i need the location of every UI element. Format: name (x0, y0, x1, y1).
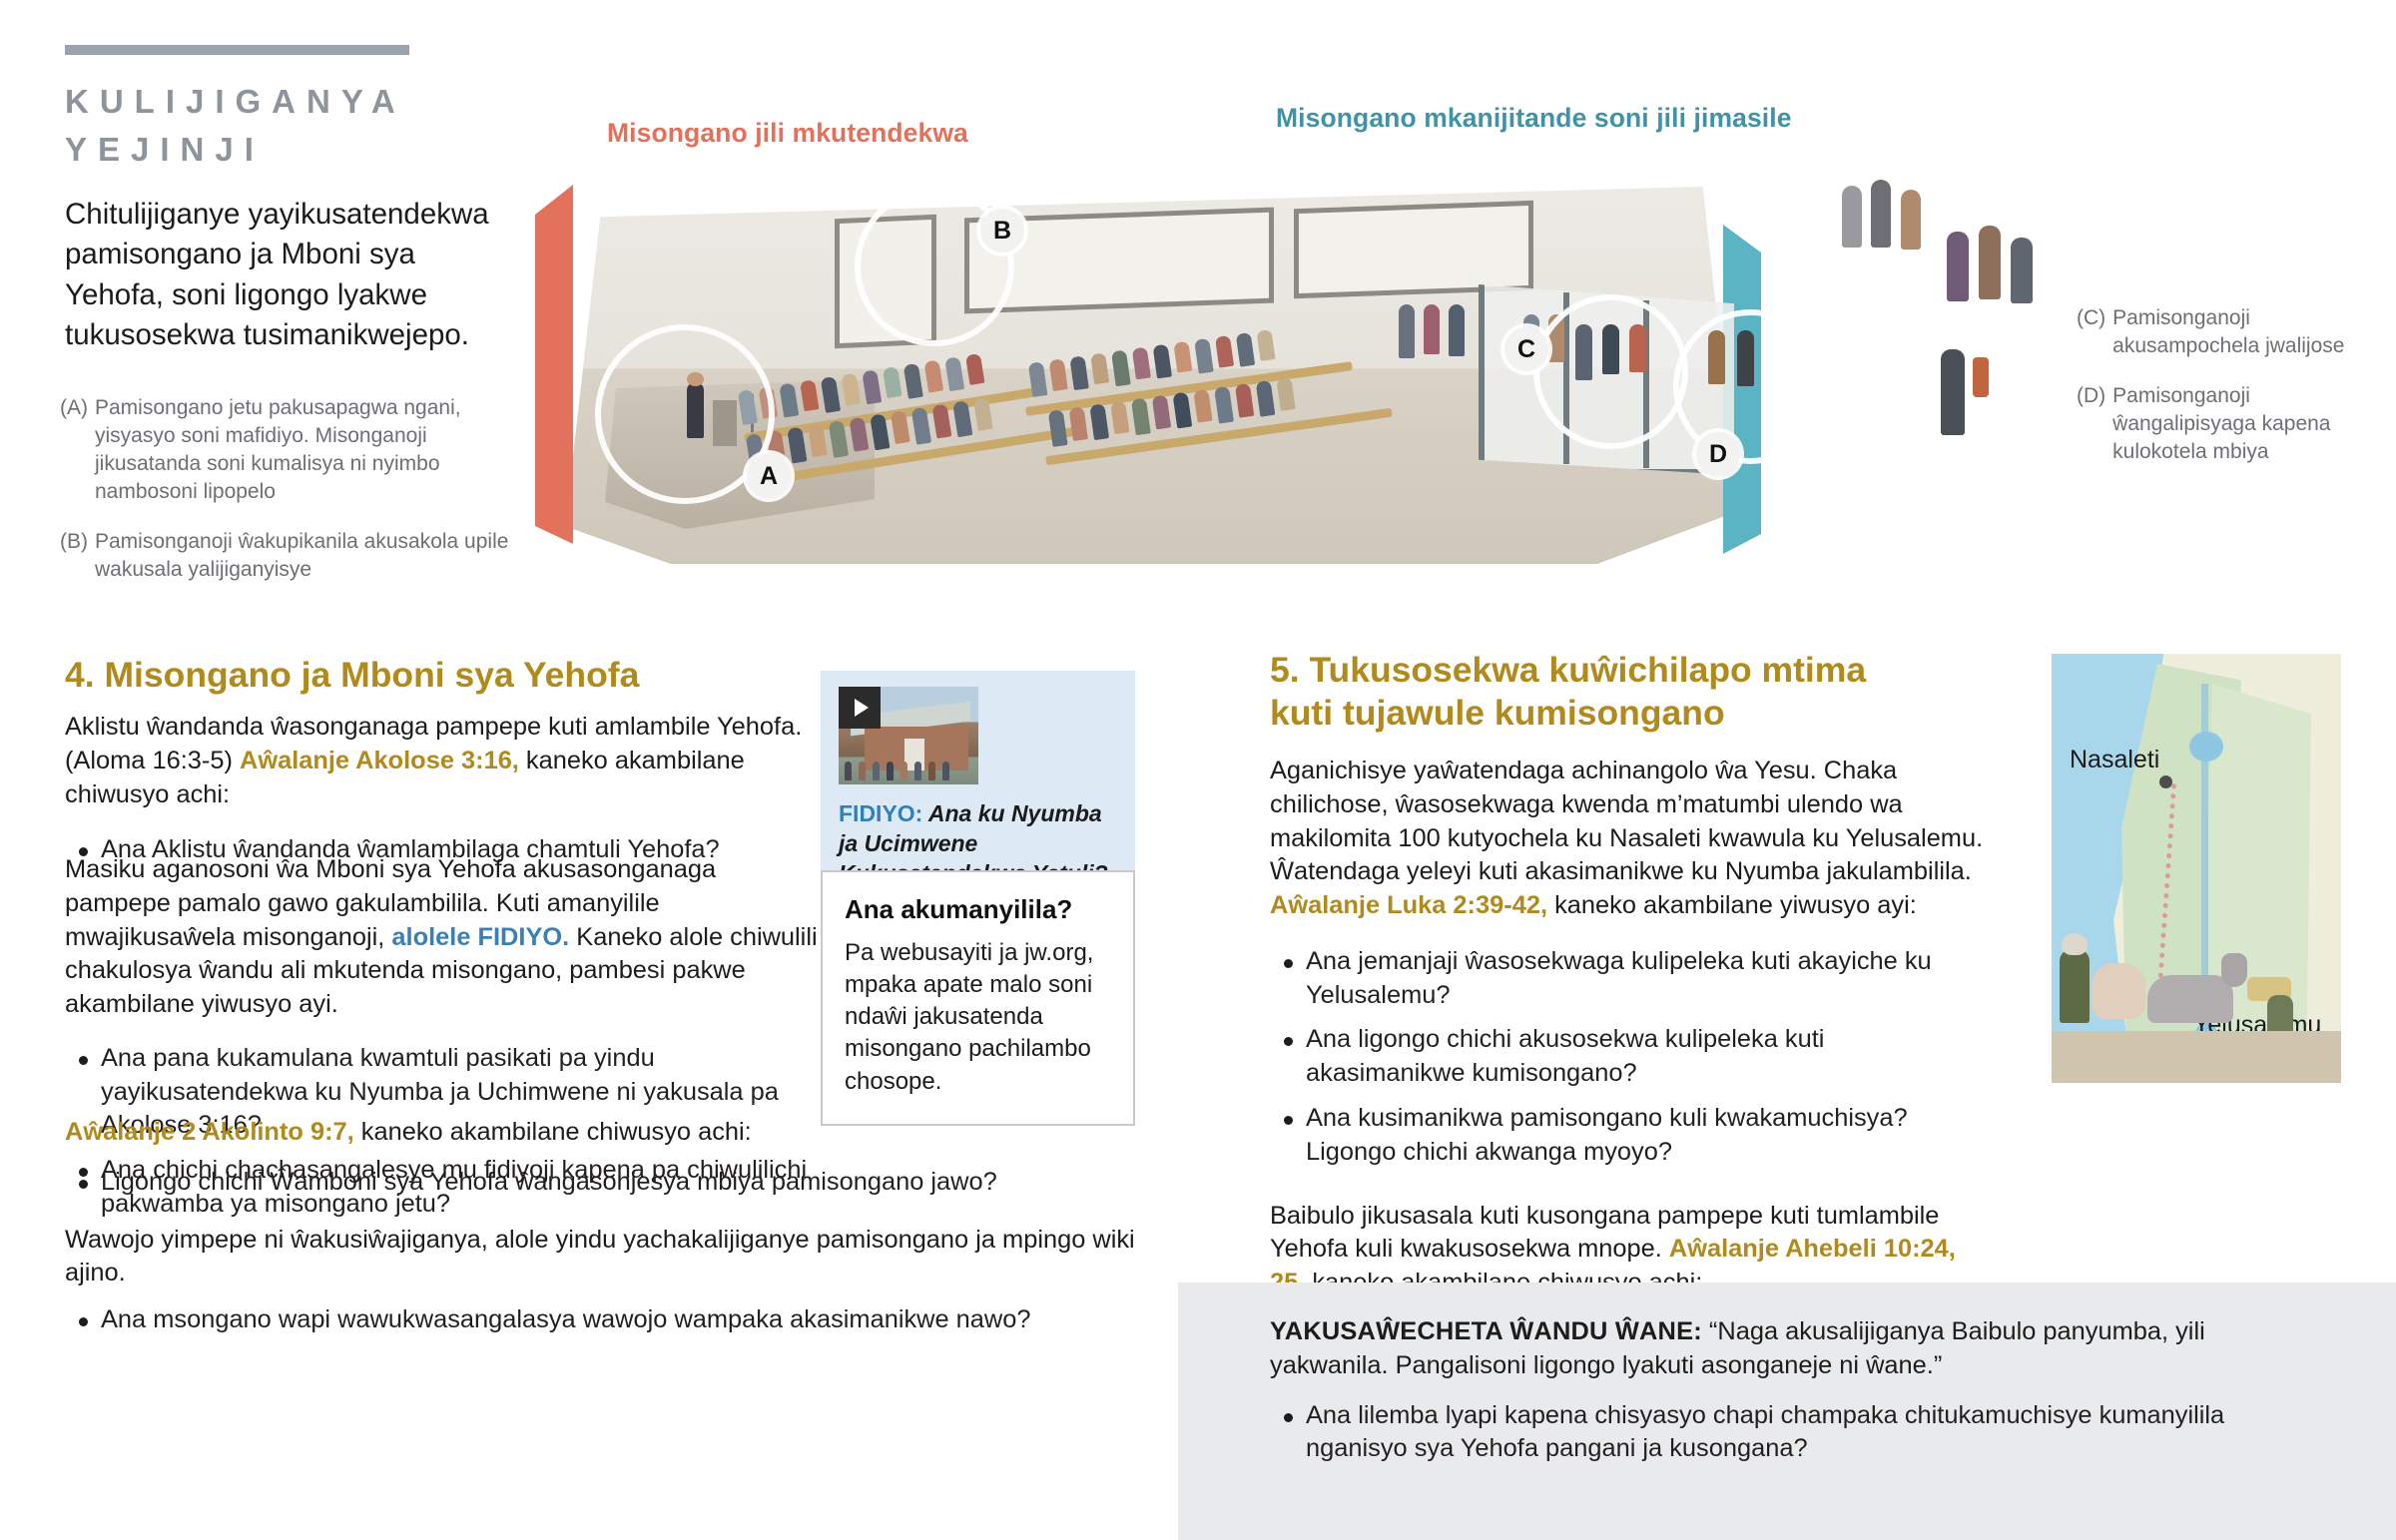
illustration-label-left: Misongano jili mkutendekwa (607, 118, 968, 149)
wall-left-red (535, 185, 573, 544)
thumb-people (845, 762, 949, 780)
video-link[interactable]: alolele FIDIYO. (391, 923, 569, 951)
legend-tag-d: (D) (2077, 382, 2105, 466)
kingdom-hall-illustration: A B C D (535, 165, 1953, 604)
section-5-questions-1: Ana jemanjaji ŵasosekwaga kulipeleka kut… (1270, 945, 1989, 1170)
s4-p3b: kaneko akambilane chiwusyo achi: (354, 1118, 752, 1146)
section-5-title: 5. Tukusosekwa kuŵichilapo mtima kuti tu… (1270, 649, 1919, 734)
section-4-body-3: Aŵalanje 2 Akolinto 9:7, kaneko akambila… (65, 1116, 1143, 1348)
traveler-headwrap (2062, 933, 2088, 955)
marker-a: A (747, 454, 791, 498)
map-label-nazareth: Nasaleti (2070, 746, 2159, 774)
video-thumbnail[interactable] (839, 687, 978, 784)
traveler-man (2060, 949, 2090, 1023)
section-4-paragraph-4: Wawojo yimpepe ni ŵakusiŵajiganya, alole… (65, 1224, 1143, 1291)
section-4-questions-3: Ligongo chichi Ŵamboni sya Yehofa ŵangas… (65, 1166, 1143, 1200)
s5-p1b: kaneko akambilane yiwusyo ayi: (1547, 891, 1917, 919)
donkey-head (2221, 953, 2247, 987)
closing-box: YAKUSAŴECHETA ŴANDU ŴANE: “Naga akusalij… (1270, 1315, 2268, 1477)
know-box-title: Ana akumanyilila? (845, 894, 1111, 925)
map-dot-nazareth (2159, 775, 2172, 788)
section-5-paragraph-1: Aganichisye yaŵatendaga achinangolo ŵa Y… (1270, 755, 1989, 923)
video-label: FIDIYO: (839, 800, 922, 826)
question-item: Ana msongano wapi wawukwasangalasya wawo… (65, 1303, 1143, 1337)
intro-paragraph: Chitulijiganye yayikusatendekwa pamisong… (65, 195, 504, 356)
s5-p1-scripture-ref[interactable]: Aŵalanje Luka 2:39-42, (1270, 891, 1547, 919)
s4-p3-scripture-ref[interactable]: Aŵalanje 2 Akolinto 9:7, (65, 1118, 354, 1146)
illustration-label-right: Misongano mkanijitande soni jili jimasil… (1276, 103, 1792, 134)
legend-item-b: (B) Pamisonganoji ŵakupikanila akusakola… (60, 528, 529, 584)
page-root: KULIJIGANYA YEJINJI Chitulijiganye yayik… (0, 0, 2396, 1540)
closing-caption: YAKUSAŴECHETA ŴANDU ŴANE: (1270, 1317, 1702, 1345)
question-item: Ligongo chichi Ŵamboni sya Yehofa ŵangas… (65, 1166, 1143, 1200)
question-item: Ana ligongo chichi akusosekwa kulipeleka… (1270, 1023, 1989, 1091)
ground (2052, 1031, 2341, 1083)
sack (2092, 963, 2145, 1019)
page-kicker: KULIJIGANYA YEJINJI (65, 78, 484, 174)
question-item: Ana lilemba lyapi kapena chisyasyo chapi… (1270, 1399, 2268, 1467)
header-rule (65, 45, 409, 55)
travelers-with-donkey (2052, 923, 2341, 1083)
legend-text-c: Pamisonganoji akusampochela jwalijose (2112, 304, 2376, 360)
did-you-know-box: Ana akumanyilila? Pa webusayiti ja jw.or… (821, 870, 1135, 1126)
marker-c: C (1504, 327, 1548, 371)
donkey-body (2147, 975, 2233, 1023)
lobby-group-left (1399, 304, 1465, 358)
know-box-text: Pa webusayiti ja jw.org, mpaka apate mal… (845, 937, 1111, 1098)
play-icon[interactable] (839, 687, 881, 729)
legend-tag-b: (B) (60, 528, 88, 584)
question-item: Ana kusimanikwa pamisongano kuli kwakamu… (1270, 1102, 1989, 1170)
callout-circle-c (1533, 294, 1688, 449)
s5-p1a: Aganichisye yaŵatendaga achinangolo ŵa Y… (1270, 757, 1983, 885)
callout-circle-d (1673, 309, 1828, 464)
legend-left: (A) Pamisongano jetu pakusapagwa ngani, … (60, 394, 529, 606)
closing-quote-paragraph: YAKUSAŴECHETA ŴANDU ŴANE: “Naga akusalij… (1270, 1315, 2268, 1383)
legend-item-c: (C) Pamisonganoji akusampochela jwalijos… (2077, 304, 2376, 360)
section-4-questions-4: Ana msongano wapi wawukwasangalasya wawo… (65, 1303, 1143, 1337)
window-right (1294, 201, 1533, 298)
legend-item-d: (D) Pamisonganoji ŵangalipisyaga kapena … (2077, 382, 2376, 466)
marker-d: D (1696, 432, 1740, 476)
legend-text-b: Pamisonganoji ŵakupikanila akusakola upi… (95, 528, 529, 584)
hall-scene: A B C D (535, 165, 1953, 604)
s4-p1-scripture-ref[interactable]: Aŵalanje Akolose 3:16, (240, 747, 519, 774)
legend-text-d: Pamisonganoji ŵangalipisyaga kapena kulo… (2112, 382, 2376, 466)
marker-b: B (980, 209, 1024, 253)
legend-text-a: Pamisongano jetu pakusapagwa ngani, yisy… (95, 394, 529, 506)
legend-item-a: (A) Pamisongano jetu pakusapagwa ngani, … (60, 394, 529, 506)
section-4-paragraph-1: Aklistu ŵandanda ŵasonganaga pampepe kut… (65, 711, 824, 811)
map-sea-of-galilee (2189, 732, 2223, 762)
israel-map-illustration: Nasaleti Yelusalemu (2052, 654, 2341, 1083)
section-4-paragraph-2: Masiku aganosoni ŵa Mboni sya Yehofa aku… (65, 853, 824, 1022)
closing-questions: Ana lilemba lyapi kapena chisyasyo chapi… (1270, 1399, 2268, 1467)
question-item: Ana jemanjaji ŵasosekwaga kulipeleka kut… (1270, 945, 1989, 1013)
legend-right: (C) Pamisonganoji akusampochela jwalijos… (2077, 304, 2376, 488)
section-4-title: 4. Misongano ja Mboni sya Yehofa (65, 654, 824, 697)
legend-tag-c: (C) (2077, 304, 2105, 360)
legend-tag-a: (A) (60, 394, 88, 506)
